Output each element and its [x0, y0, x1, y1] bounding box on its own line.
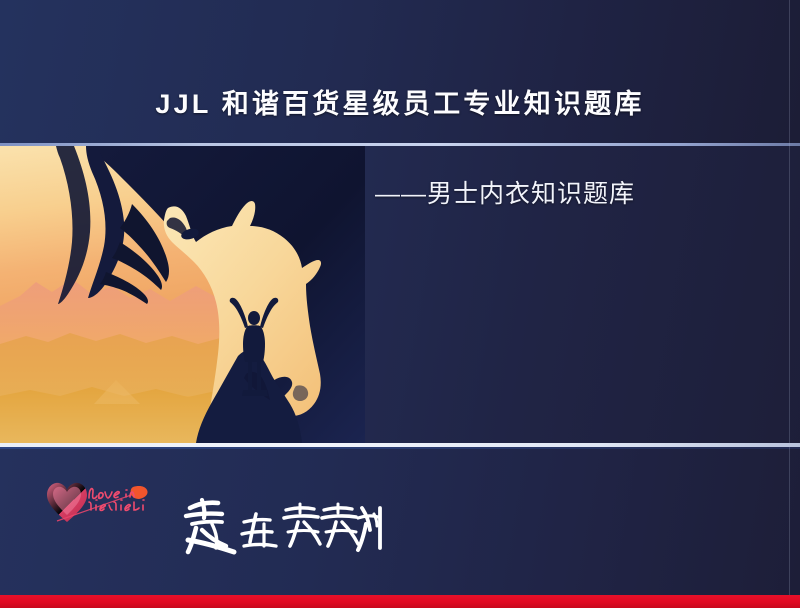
page-title: JJL 和谐百货星级员工专业知识题库 [0, 82, 800, 121]
brand-logo [33, 477, 161, 529]
hero-image [0, 146, 365, 443]
header-band [0, 0, 800, 144]
subtitle-wrap: ——男士内衣知识题库 [375, 174, 795, 210]
accent-bar [0, 595, 800, 608]
title-slide: JJL 和谐百货星级员工专业知识题库 [0, 0, 800, 608]
handwritten-chinese-icon [172, 494, 387, 562]
brand-calligraphy [172, 494, 387, 562]
right-edge-line [789, 0, 790, 595]
heart-logo-icon [33, 477, 161, 529]
horse-head-sunset-silhouette-icon [0, 146, 365, 443]
subtitle: ——男士内衣知识题库 [375, 174, 795, 210]
